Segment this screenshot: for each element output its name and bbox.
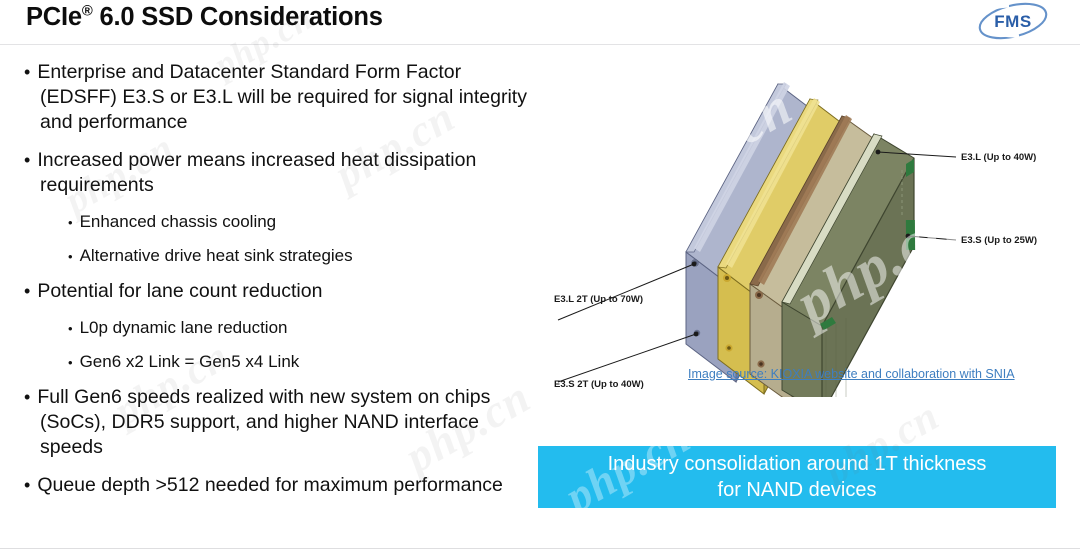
page-title: PCIe® 6.0 SSD Considerations	[26, 3, 383, 32]
label-e3l: E3.L (Up to 40W)	[961, 152, 1036, 163]
fms-logo: FMS	[974, 2, 1052, 40]
bullet-item: Gen6 x2 Link = Gen5 x4 Link	[24, 351, 529, 374]
image-source-link[interactable]: Image source: KIOXIA website and collabo…	[688, 367, 1015, 381]
callout-line-2: for NAND devices	[718, 479, 877, 501]
bullet-item: Alternative drive heat sink strategies	[24, 245, 529, 268]
fms-logo-graphic: FMS	[974, 2, 1052, 40]
page-title-main: PCIe	[26, 3, 82, 31]
bullet-item: Queue depth >512 needed for maximum perf…	[24, 473, 529, 498]
ssd-stack-illustration: E3.L 2T (Up to 70W) E3.S 2T (Up to 40W) …	[536, 52, 1066, 397]
bullet-item: Potential for lane count reduction	[24, 279, 529, 304]
bullet-item: Enhanced chassis cooling	[24, 211, 529, 234]
bullet-item: Increased power means increased heat dis…	[24, 148, 529, 198]
ssd-form-factor-figure: E3.L 2T (Up to 70W) E3.S 2T (Up to 40W) …	[536, 52, 1066, 397]
label-e3s-2t: E3.S 2T (Up to 40W)	[554, 379, 644, 390]
bullet-list: Enterprise and Datacenter Standard Form …	[24, 60, 529, 511]
label-e3l-2t: E3.L 2T (Up to 70W)	[554, 294, 643, 305]
label-e3s: E3.S (Up to 25W)	[961, 235, 1037, 246]
bullet-item: Enterprise and Datacenter Standard Form …	[24, 60, 529, 135]
bullet-item: Full Gen6 speeds realized with new syste…	[24, 385, 529, 460]
callout-box: Industry consolidation around 1T thickne…	[538, 446, 1056, 508]
fms-logo-text: FMS	[994, 12, 1031, 31]
header-divider	[0, 44, 1080, 45]
page-title-rest: 6.0 SSD Considerations	[93, 3, 383, 31]
slide-pcie-6-ssd-considerations: PCIe® 6.0 SSD Considerations FMS Enterpr…	[0, 0, 1080, 557]
registered-mark-icon: ®	[82, 4, 93, 20]
footer-divider	[0, 548, 1080, 549]
callout-line-1: Industry consolidation around 1T thickne…	[608, 453, 987, 475]
bullet-item: L0p dynamic lane reduction	[24, 317, 529, 340]
callout-text: Industry consolidation around 1T thickne…	[592, 451, 1003, 503]
slide-header: PCIe® 6.0 SSD Considerations FMS	[0, 0, 1080, 45]
